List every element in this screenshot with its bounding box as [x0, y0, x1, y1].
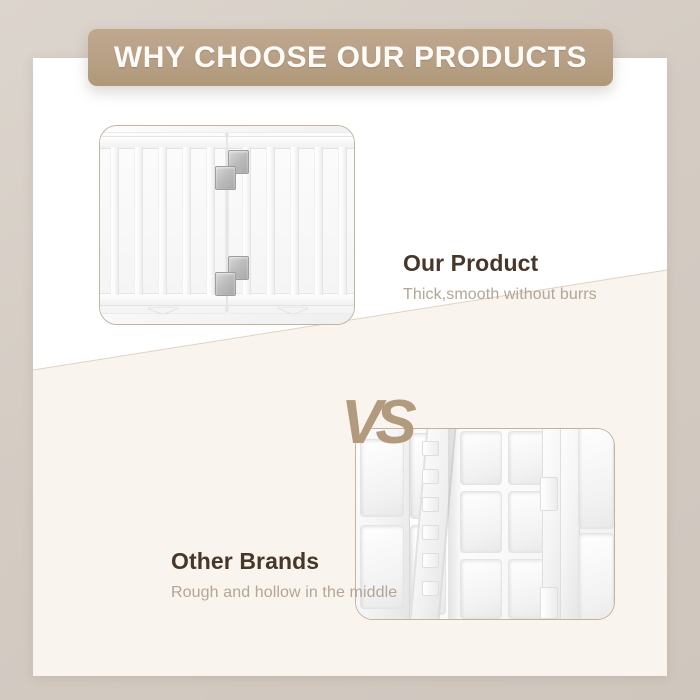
- hollow-cell: [460, 431, 502, 485]
- gate-illustration: [100, 126, 354, 324]
- gate-slat: [338, 147, 347, 295]
- gate-hinge-icon: [215, 272, 236, 296]
- hollow-cell: [460, 559, 502, 619]
- header-banner: WHY CHOOSE OUR PRODUCTS: [88, 29, 613, 86]
- hollow-notch: [422, 441, 439, 456]
- hollow-panel-edge: [560, 428, 580, 620]
- versus-label: VS: [341, 392, 410, 454]
- gate-slat: [206, 147, 215, 295]
- gate-slat: [134, 147, 143, 295]
- gate-support-foot: [278, 307, 308, 318]
- gate-slat: [314, 147, 323, 295]
- hollow-cell: [578, 533, 614, 620]
- header-banner-title: WHY CHOOSE OUR PRODUCTS: [114, 41, 587, 75]
- hollow-notch: [422, 525, 439, 540]
- hollow-cell: [578, 428, 614, 529]
- hollow-hinge-slot: [540, 477, 558, 511]
- infographic-canvas: Our Product Thick,smooth without burrs V…: [0, 0, 700, 700]
- content-card: Our Product Thick,smooth without burrs V…: [33, 58, 667, 676]
- gate-slat: [290, 147, 299, 295]
- other-brands-subtitle: Rough and hollow in the middle: [171, 584, 397, 602]
- our-product-subtitle: Thick,smooth without burrs: [403, 286, 597, 304]
- other-brands-text-block: Other Brands Rough and hollow in the mid…: [171, 548, 397, 602]
- gate-slat: [158, 147, 167, 295]
- gate-slat: [182, 147, 191, 295]
- other-brands-title: Other Brands: [171, 548, 397, 575]
- hollow-hinge-slot: [540, 587, 558, 619]
- gate-hinge-icon: [215, 166, 236, 190]
- our-product-text-block: Our Product Thick,smooth without burrs: [403, 250, 597, 304]
- hollow-notch: [422, 469, 439, 484]
- hollow-notch: [422, 497, 439, 512]
- gate-support-foot: [148, 307, 178, 318]
- our-product-title: Our Product: [403, 250, 597, 277]
- hollow-cell: [460, 491, 502, 553]
- gate-slat: [110, 147, 119, 295]
- hollow-notch: [422, 581, 439, 596]
- hollow-notch: [422, 553, 439, 568]
- our-product-photo: [99, 125, 355, 325]
- gate-slat: [266, 147, 275, 295]
